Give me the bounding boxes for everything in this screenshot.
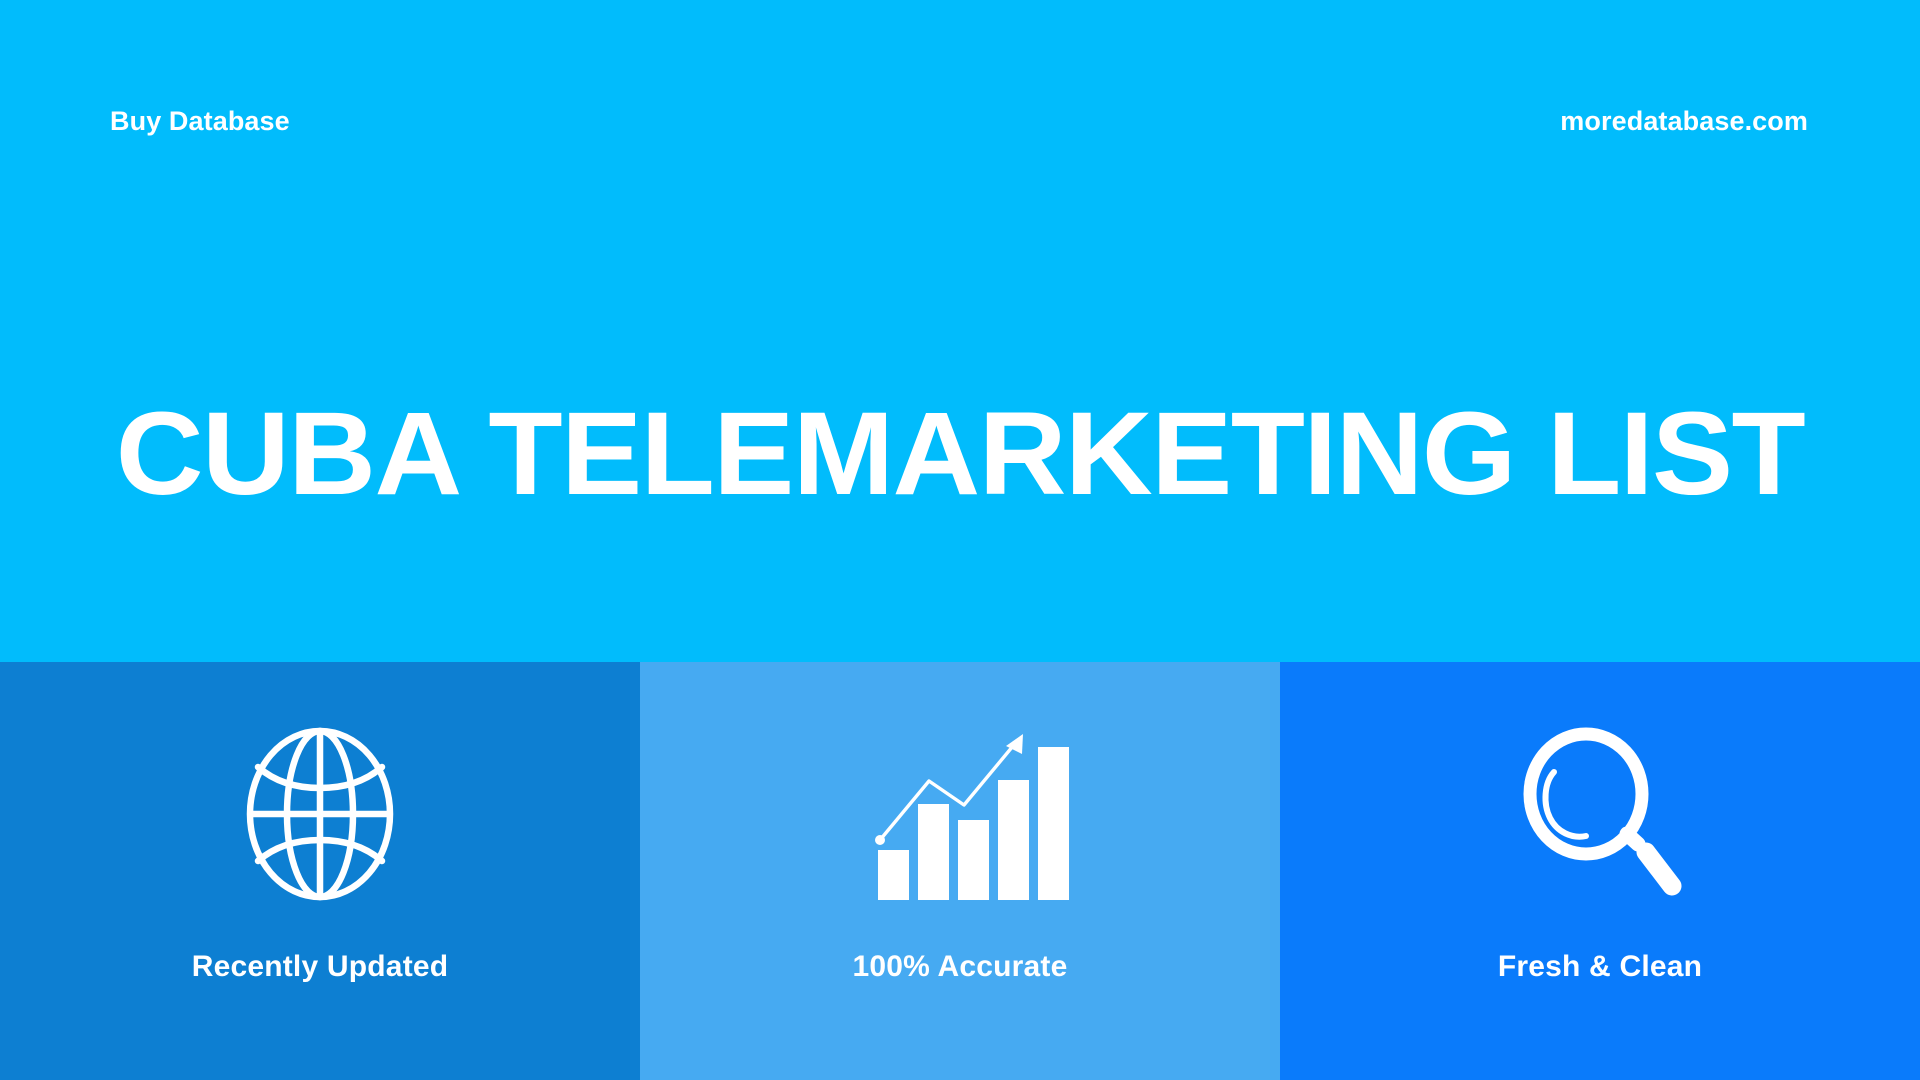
feature-strip: Recently Updated	[0, 662, 1920, 1080]
bar-chart-growth-icon	[860, 724, 1060, 904]
brand-label[interactable]: Buy Database	[110, 108, 290, 135]
magnifier-icon	[1500, 724, 1700, 904]
promo-banner: Buy Database moredatabase.com CUBA TELEM…	[0, 0, 1920, 1080]
feature-label: Recently Updated	[0, 952, 640, 982]
feature-card-recently-updated[interactable]: Recently Updated	[0, 662, 640, 1080]
page-title: CUBA TELEMARKETING LIST	[0, 391, 1920, 518]
globe-icon	[220, 724, 420, 904]
hero-section: Buy Database moredatabase.com CUBA TELEM…	[0, 0, 1920, 662]
feature-label: 100% Accurate	[640, 952, 1280, 982]
feature-card-fresh-clean[interactable]: Fresh & Clean	[1280, 662, 1920, 1080]
feature-card-accuracy[interactable]: 100% Accurate	[640, 662, 1280, 1080]
site-url-label[interactable]: moredatabase.com	[1560, 108, 1808, 135]
feature-label: Fresh & Clean	[1280, 952, 1920, 982]
